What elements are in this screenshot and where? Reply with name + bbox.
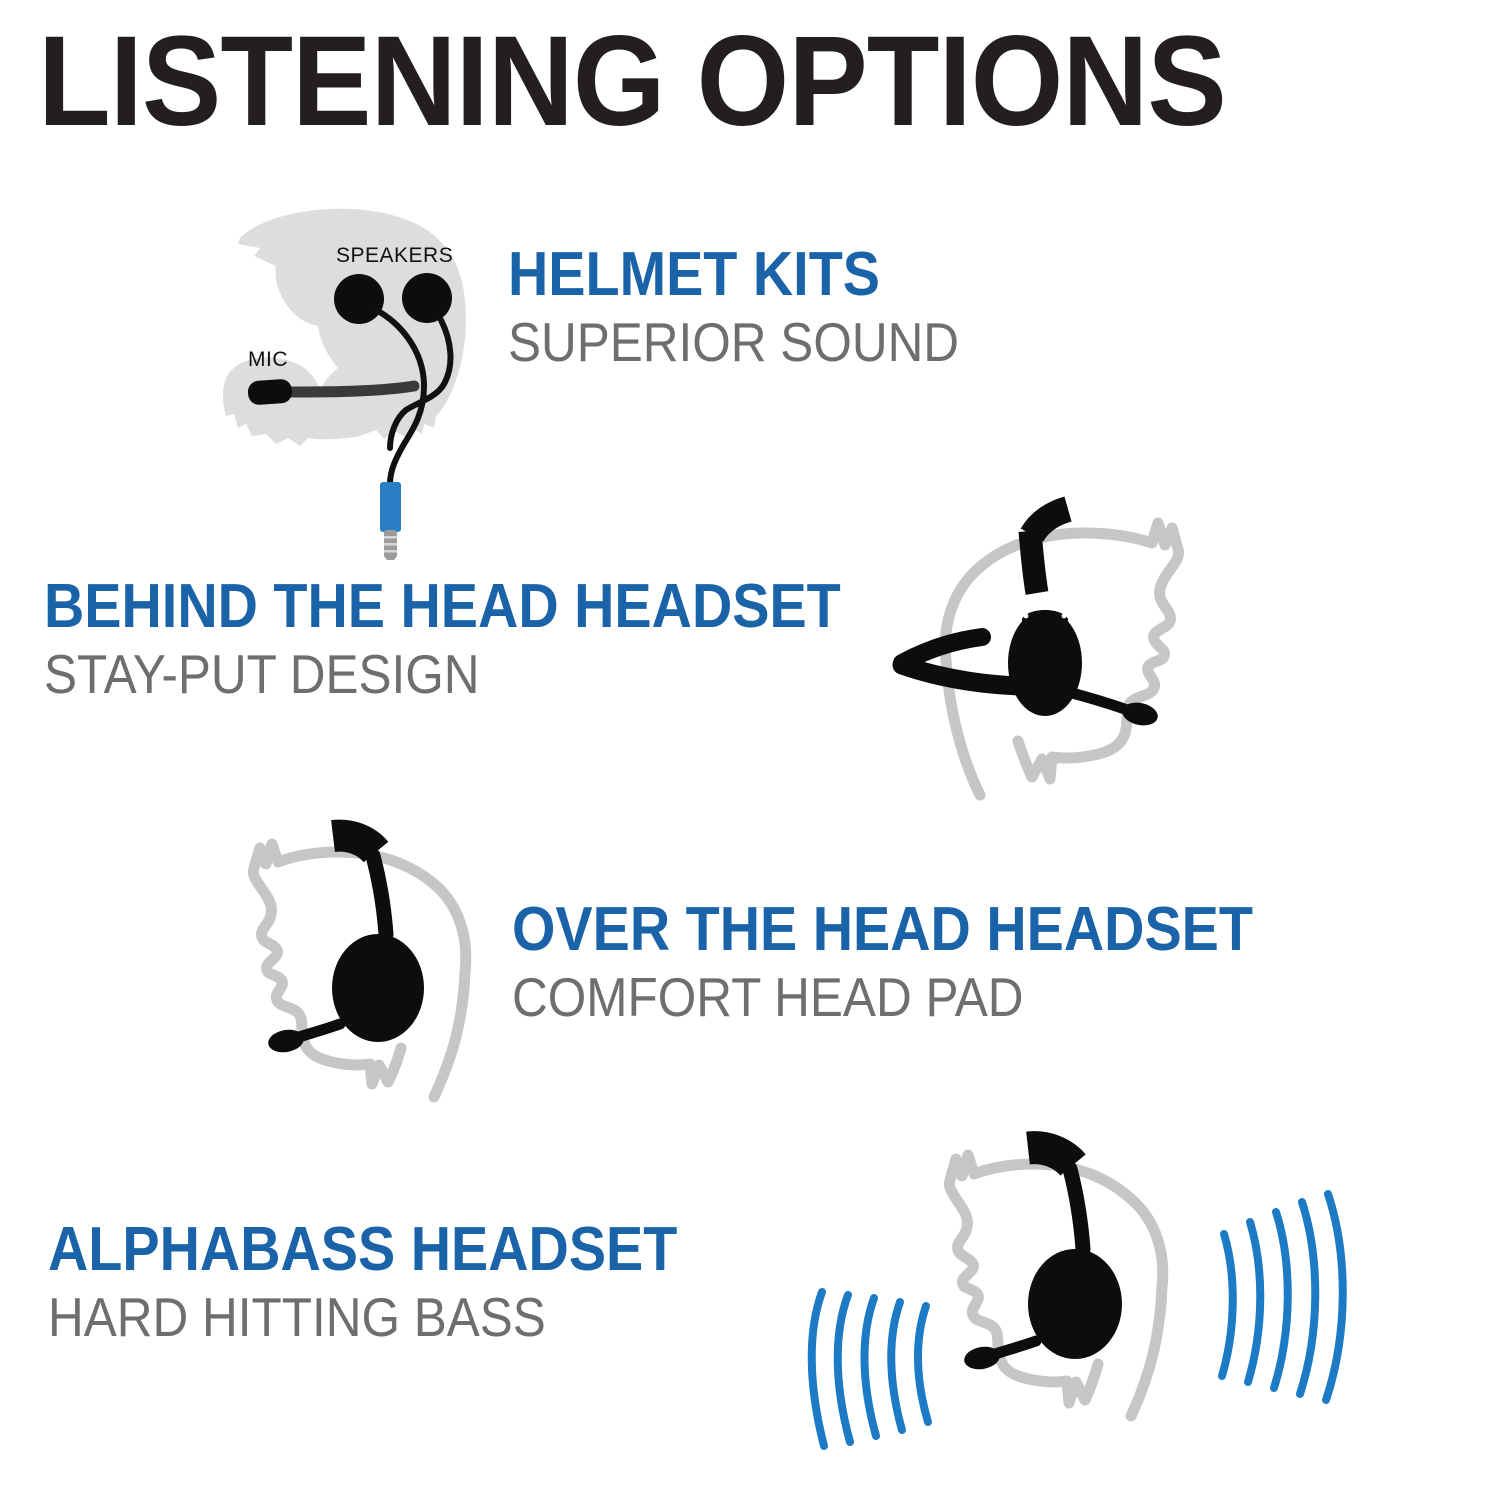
behind-the-head-headset-illustration (862, 483, 1234, 823)
option-alphabass-headset: ALPHABASS HEADSET HARD HITTING BASS (48, 1218, 747, 1345)
ear-cup-yoke (1022, 610, 1068, 633)
option-heading: OVER THE HEAD HEADSET (512, 898, 1253, 961)
speakers-label: SPEAKERS (336, 244, 453, 267)
sound-waves-right (1222, 1194, 1343, 1400)
speaker-left-icon (334, 274, 384, 324)
option-subtitle: SUPERIOR SOUND (508, 314, 959, 370)
infographic-page: LISTENING OPTIONS SPEAKERS MIC (0, 0, 1500, 1500)
option-helmet-kits: HELMET KITS SUPERIOR SOUND (508, 243, 1009, 370)
headband-vertical (1070, 1169, 1083, 1249)
option-subtitle: STAY-PUT DESIGN (44, 646, 841, 702)
headband-top-pad (1028, 1148, 1073, 1165)
option-subtitle: COMFORT HEAD PAD (512, 969, 1253, 1025)
page-title: LISTENING OPTIONS (38, 18, 1226, 146)
ear-cup (332, 934, 424, 1042)
helmet-kit-illustration: SPEAKERS MIC (208, 196, 528, 546)
speaker-right-icon (402, 273, 452, 323)
mic-label: MIC (248, 348, 288, 371)
option-over-the-head-headset: OVER THE HEAD HEADSET COMFORT HEAD PAD (512, 898, 1335, 1025)
option-heading: HELMET KITS (508, 243, 959, 306)
sound-waves-left (812, 1292, 928, 1446)
mic-capsule (247, 378, 293, 405)
option-heading: ALPHABASS HEADSET (48, 1218, 677, 1281)
headband-top (1030, 531, 1037, 593)
alphabass-headset-illustration (792, 1122, 1358, 1482)
option-subtitle: HARD HITTING BASS (48, 1289, 677, 1345)
audio-plug-body (380, 482, 401, 532)
ear-cup (1028, 1249, 1122, 1359)
mic-boom-arm (284, 386, 414, 392)
option-heading: BEHIND THE HEAD HEADSET (44, 575, 841, 638)
mic-boom (1072, 693, 1130, 711)
over-the-head-headset-illustration (218, 812, 548, 1142)
headband-vertical (373, 856, 386, 934)
option-behind-the-head-headset: BEHIND THE HEAD HEADSET STAY-PUT DESIGN (44, 575, 929, 702)
